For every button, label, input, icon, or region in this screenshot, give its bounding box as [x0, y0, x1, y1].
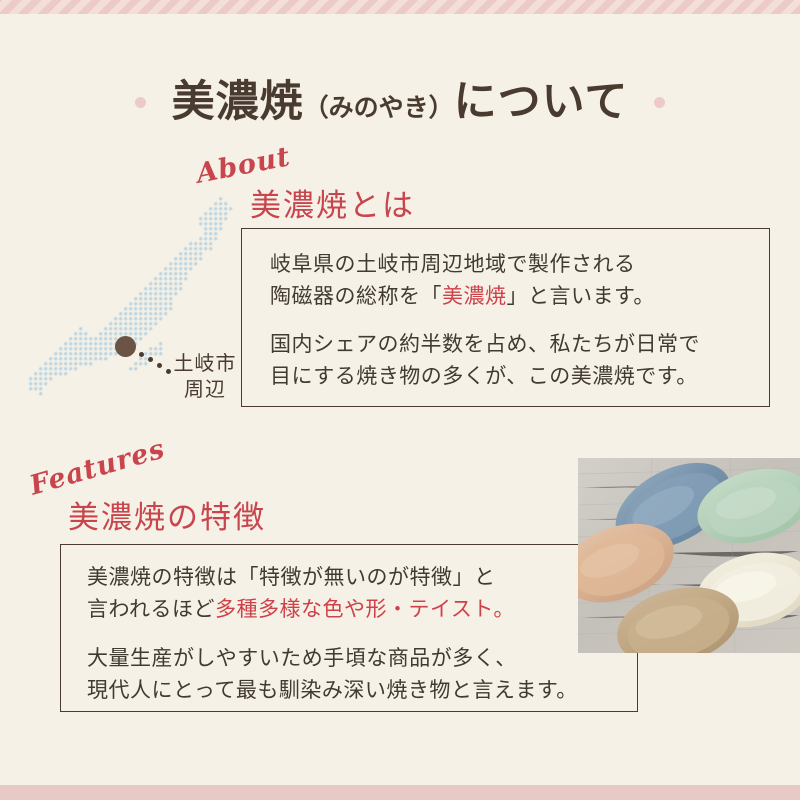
features-paragraph-2: 大量生産がしやすいため手頃な商品が多く、現代人にとって最も馴染み深い焼き物と言え… — [87, 643, 578, 707]
highlighted-term: 多種多様な色や形・テイスト。 — [215, 597, 515, 621]
paragraph-line: 言われるほど多種多様な色や形・テイスト。 — [87, 594, 578, 626]
about-paragraphs: 岐阜県の土岐市周辺地域で製作される陶磁器の総称を「美濃焼」と言います。 国内シェ… — [270, 249, 700, 393]
pottery-photo-illustration — [578, 458, 800, 653]
text-run: 言われるほど — [87, 597, 215, 621]
page-title-kana: （みのやき） — [304, 93, 454, 122]
about-paragraph-2: 国内シェアの約半数を占め、私たちが日常で目にする焼き物の多くが、この美濃焼です。 — [270, 329, 700, 393]
page-title: 美濃焼（みのやき）について — [172, 81, 629, 124]
text-box-features: 美濃焼の特徴は「特徴が無いのが特徴」と言われるほど多種多様な色や形・テイスト。 … — [60, 544, 638, 712]
page-title-main: 美濃焼 — [172, 77, 304, 127]
text-run: 国内シェアの約半数を占め、私たちが日常で — [270, 332, 700, 356]
paragraph-line: 国内シェアの約半数を占め、私たちが日常で — [270, 329, 700, 361]
poster-root: 美濃焼（みのやき）について About 美濃焼とは 土岐市 周辺 岐阜県の土岐市… — [0, 0, 800, 800]
about-paragraph-1: 岐阜県の土岐市周辺地域で製作される陶磁器の総称を「美濃焼」と言います。 — [270, 249, 700, 313]
paragraph-line: 岐阜県の土岐市周辺地域で製作される — [270, 249, 700, 281]
page-title-row: 美濃焼（みのやき）について — [0, 52, 800, 153]
title-dot-left-icon — [135, 97, 146, 108]
map-label-line1: 土岐市 — [160, 350, 250, 376]
text-run: 」と言います。 — [507, 284, 655, 308]
section-heading-about: 美濃焼とは — [250, 180, 415, 225]
text-run: 岐阜県の土岐市周辺地域で製作される — [270, 252, 636, 276]
paragraph-line: 美濃焼の特徴は「特徴が無いのが特徴」と — [87, 562, 578, 594]
text-run: 大量生産がしやすいため手頃な商品が多く、 — [87, 646, 517, 670]
text-run: 陶磁器の総称を「 — [270, 284, 442, 308]
section-heading-features: 美濃焼の特徴 — [68, 492, 266, 537]
toki-city-marker-icon — [115, 336, 136, 357]
highlighted-term: 美濃焼 — [442, 284, 507, 308]
top-stripe-decoration — [0, 0, 800, 14]
map-label: 土岐市 周辺 — [160, 350, 250, 403]
map-label-line2: 周辺 — [160, 376, 250, 402]
page-title-tail: について — [454, 77, 629, 127]
text-run: 現代人にとって最も馴染み深い焼き物と言えます。 — [87, 678, 578, 702]
bottom-stripe-decoration — [0, 785, 800, 800]
text-box-about: 岐阜県の土岐市周辺地域で製作される陶磁器の総称を「美濃焼」と言います。 国内シェ… — [241, 228, 770, 407]
text-run: 美濃焼の特徴は「特徴が無いのが特徴」と — [87, 565, 496, 589]
features-paragraphs: 美濃焼の特徴は「特徴が無いのが特徴」と言われるほど多種多様な色や形・テイスト。 … — [87, 562, 578, 707]
paragraph-line: 現代人にとって最も馴染み深い焼き物と言えます。 — [87, 675, 578, 707]
paragraph-line: 目にする焼き物の多くが、この美濃焼です。 — [270, 361, 700, 393]
pottery-photo — [578, 458, 800, 653]
paragraph-line: 陶磁器の総称を「美濃焼」と言います。 — [270, 281, 700, 313]
features-paragraph-1: 美濃焼の特徴は「特徴が無いのが特徴」と言われるほど多種多様な色や形・テイスト。 — [87, 562, 578, 626]
title-dot-right-icon — [654, 97, 665, 108]
text-run: 目にする焼き物の多くが、この美濃焼です。 — [270, 364, 698, 388]
paragraph-line: 大量生産がしやすいため手頃な商品が多く、 — [87, 643, 578, 675]
